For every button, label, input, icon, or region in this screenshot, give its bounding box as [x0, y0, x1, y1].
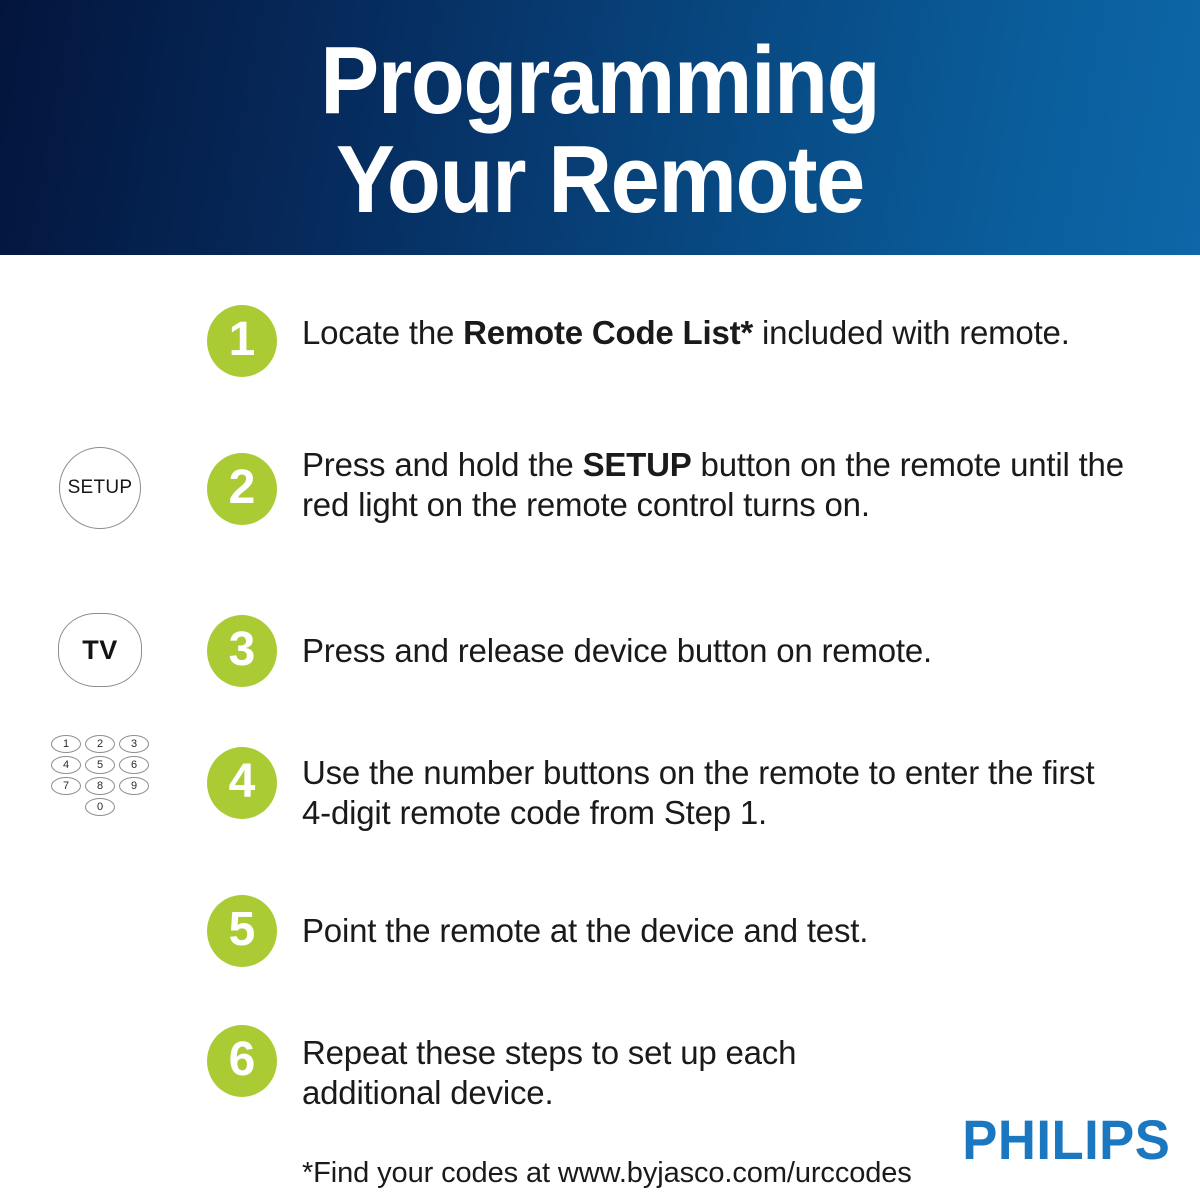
step-text-4: Use the number buttons on the remote to …	[302, 753, 1132, 833]
step-row-4: 1 2 3 4 5 6 7 8 9 0	[0, 735, 1200, 865]
step-text-6-part-a: Repeat these steps to set up each additi…	[302, 1034, 796, 1111]
keypad-key: 9	[119, 777, 149, 795]
step-text-1-bold: Remote Code List*	[463, 314, 753, 351]
tv-key-icon: TV	[58, 613, 142, 687]
keypad-key: 4	[51, 756, 81, 774]
setup-key-label: SETUP	[68, 477, 133, 499]
keypad-key: 2	[85, 735, 115, 753]
step-number-badge-1: 1	[207, 305, 277, 377]
keypad-row: 0	[85, 798, 115, 816]
page-title-line-2: Your Remote	[336, 133, 864, 227]
step-text-1-part-a: Locate the	[302, 314, 463, 351]
page-title-line-1: Programming	[321, 34, 880, 128]
keypad-row: 1 2 3	[51, 735, 149, 753]
step-text-3-part-a: Press and release device button on remot…	[302, 632, 932, 669]
step-number-badge-3: 3	[207, 615, 277, 687]
step-icon-slot-2: SETUP	[40, 447, 160, 529]
keypad-key: 6	[119, 756, 149, 774]
step-text-1: Locate the Remote Code List* included wi…	[302, 313, 1132, 353]
step-number-badge-6: 6	[207, 1025, 277, 1097]
step-row-2: SETUP 2 Press and hold the SETUP button …	[0, 437, 1200, 597]
keypad-key: 8	[85, 777, 115, 795]
philips-logo: PHILIPS	[962, 1112, 1170, 1168]
number-keypad-icon: 1 2 3 4 5 6 7 8 9 0	[48, 735, 152, 816]
step-text-2-part-a: Press and hold the	[302, 446, 583, 483]
step-text-5-part-a: Point the remote at the device and test.	[302, 912, 868, 949]
step-row-1: 1 Locate the Remote Code List* included …	[0, 305, 1200, 425]
step-row-3: TV 3 Press and release device button on …	[0, 595, 1200, 705]
step-icon-slot-4: 1 2 3 4 5 6 7 8 9 0	[40, 735, 160, 816]
step-text-5: Point the remote at the device and test.	[302, 911, 1132, 951]
step-text-4-part-a: Use the number buttons on the remote to …	[302, 754, 1094, 831]
setup-key-icon: SETUP	[59, 447, 141, 529]
keypad-key: 7	[51, 777, 81, 795]
step-number-badge-4: 4	[207, 747, 277, 819]
keypad-row: 7 8 9	[51, 777, 149, 795]
step-row-5: 5 Point the remote at the device and tes…	[0, 895, 1200, 1005]
step-text-2-bold: SETUP	[583, 446, 692, 483]
keypad-key: 1	[51, 735, 81, 753]
step-number-badge-5: 5	[207, 895, 277, 967]
step-icon-slot-3: TV	[40, 613, 160, 687]
step-number-badge-2: 2	[207, 453, 277, 525]
footnote-text: *Find your codes at www.byjasco.com/urcc…	[302, 1156, 912, 1190]
step-text-1-part-b: included with remote.	[753, 314, 1070, 351]
step-text-3: Press and release device button on remot…	[302, 631, 1132, 671]
keypad-key: 5	[85, 756, 115, 774]
infographic-page: Programming Your Remote 1 Locate the Rem…	[0, 0, 1200, 1200]
keypad-key: 3	[119, 735, 149, 753]
step-text-2: Press and hold the SETUP button on the r…	[302, 445, 1132, 525]
tv-key-label: TV	[82, 635, 118, 666]
keypad-key: 0	[85, 798, 115, 816]
step-text-6: Repeat these steps to set up each additi…	[302, 1033, 942, 1113]
header-banner: Programming Your Remote	[0, 0, 1200, 255]
keypad-row: 4 5 6	[51, 756, 149, 774]
